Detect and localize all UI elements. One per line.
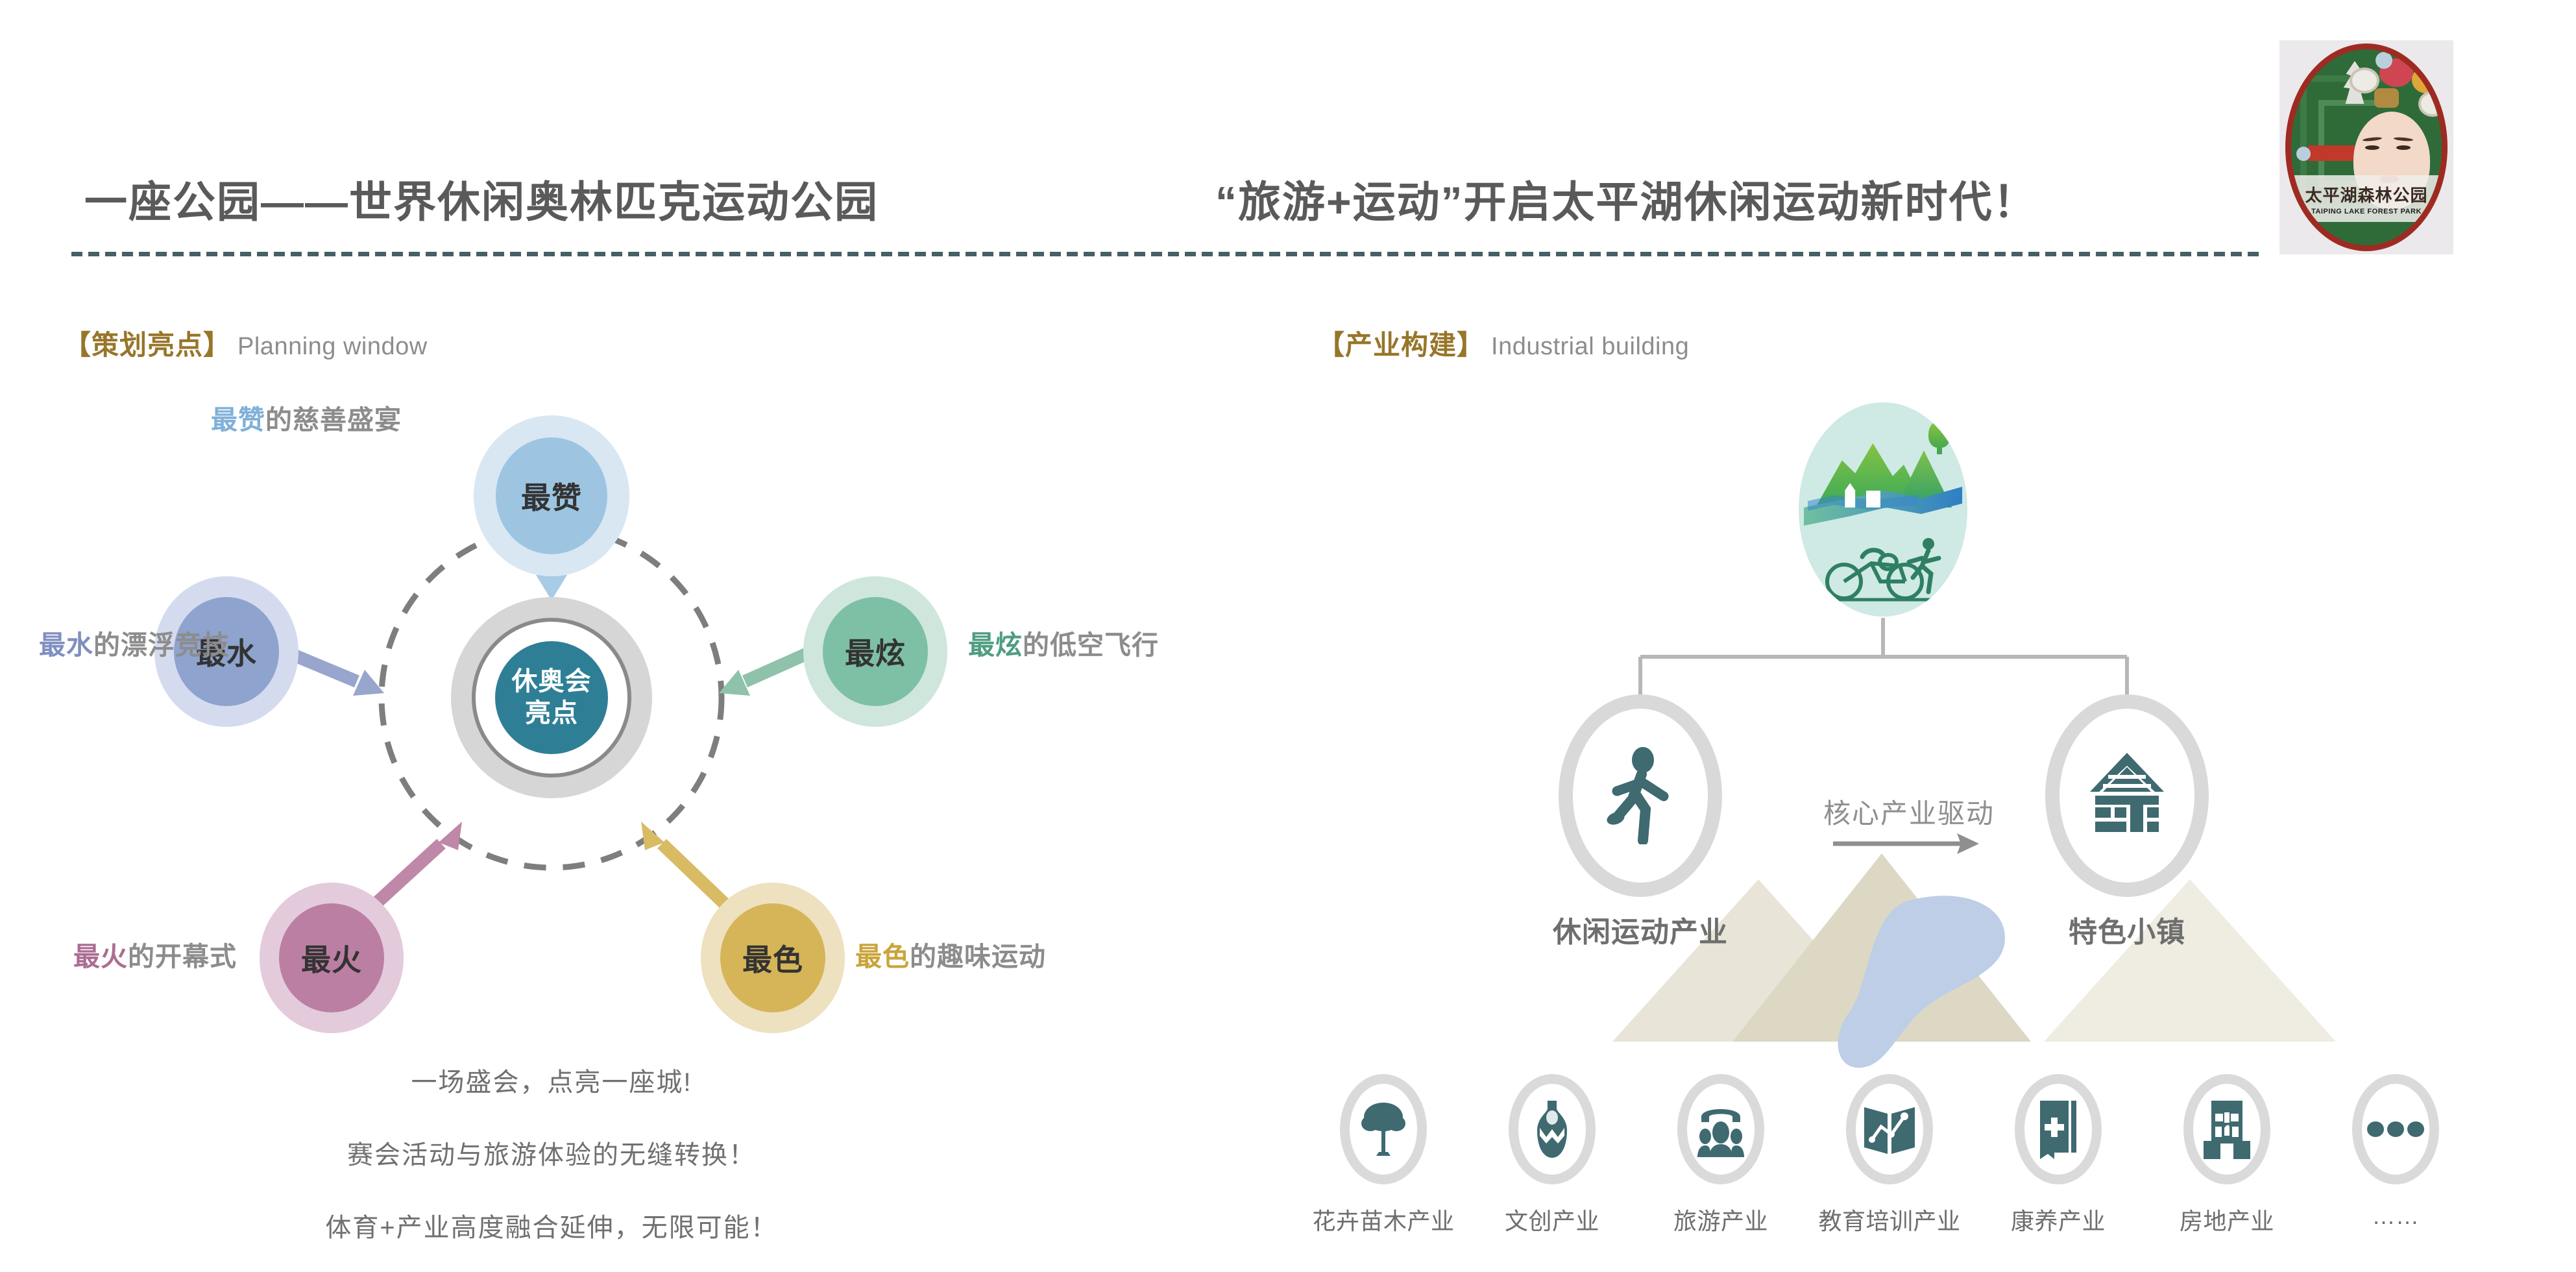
label-zan: 最赞的慈善盛宴 <box>211 398 402 437</box>
header-divider <box>71 252 2265 256</box>
core-drive-arrow <box>1833 833 1979 854</box>
sport-emblem <box>1799 402 1967 617</box>
label-huo-key: 最火 <box>73 942 128 972</box>
label-shui-key: 最水 <box>39 630 93 660</box>
logo-eye-left <box>2365 145 2379 150</box>
logo-brow-left <box>2363 136 2382 141</box>
main-node-characteristic-town[interactable]: 特色小镇 <box>2045 694 2209 897</box>
label-xuan: 最炫的低空飞行 <box>968 623 1159 662</box>
tagline-1: 一场盛会，点亮一座城! <box>78 1061 1025 1099</box>
industry-node-label: …… <box>2372 1203 2420 1230</box>
open-book-icon <box>1862 1102 1917 1156</box>
label-huo: 最火的开幕式 <box>73 935 237 973</box>
arrow-se <box>641 822 736 915</box>
logo-flower-white-2 <box>2418 91 2447 117</box>
logo-eye-right <box>2396 145 2411 150</box>
node-zan-chip: 最赞 <box>496 437 607 554</box>
label-se-key: 最色 <box>855 942 910 972</box>
center-outer-ring: 休奥会 亮点 <box>451 597 652 798</box>
industry-node-label: 花卉苗木产业 <box>1312 1203 1454 1236</box>
hot-air-balloon-icon <box>1928 421 1950 448</box>
tagline-2: 赛会活动与旅游体验的无缝转换！ <box>78 1134 1025 1171</box>
tree-icon <box>1359 1100 1407 1158</box>
node-huo-chip: 最火 <box>279 903 384 1012</box>
industry-node-health-care[interactable]: 康养产业 <box>2015 1074 2102 1184</box>
industry-node-more[interactable]: …… <box>2352 1074 2439 1184</box>
main-node-leisure-sport-label: 休闲运动产业 <box>1553 909 1728 950</box>
emblem-house-2-icon <box>1866 491 1880 508</box>
industry-node-label: 旅游产业 <box>1673 1203 1768 1236</box>
node-huo[interactable]: 最火 <box>260 883 404 1033</box>
industry-node-label: 文创产业 <box>1505 1203 1599 1236</box>
logo-disc: 太平湖森林公园 TAIPING LAKE FOREST PARK <box>2285 43 2448 251</box>
house-icon <box>2086 752 2168 840</box>
logo-caption-band: 太平湖森林公园 TAIPING LAKE FOREST PARK <box>2291 175 2442 222</box>
logo-cn-text: 太平湖森林公园 <box>2305 182 2427 206</box>
label-shui: 最水的漂浮竞技 <box>39 623 230 662</box>
logo-bead-top <box>2376 52 2392 69</box>
section-heading-planning: 【策划亮点】Planning window <box>64 323 428 363</box>
building-icon <box>2204 1099 2250 1159</box>
industry-node-label: 房地产业 <box>2180 1203 2274 1236</box>
tree-connector-lines <box>1640 618 2127 694</box>
slide-root: 一座公园——世界休闲奥林匹克运动公园 “旅游+运动”开启太平湖休闲运动新时代！ … <box>0 0 2576 1271</box>
header-title-left: 一座公园——世界休闲奥林匹克运动公园 <box>84 167 879 230</box>
logo-en-text: TAIPING LAKE FOREST PARK <box>2311 208 2422 215</box>
industry-node-tourism[interactable]: 旅游产业 <box>1677 1074 1764 1184</box>
section-heading-en: Planning window <box>237 333 428 360</box>
section-heading-en: Industrial building <box>1491 333 1689 360</box>
medical-book-icon <box>2037 1099 2079 1159</box>
center-core: 休奥会 亮点 <box>495 641 608 754</box>
ellipsis-icon <box>2367 1121 2424 1138</box>
industry-node-real-estate[interactable]: 房地产业 <box>2183 1074 2270 1184</box>
logo-brow-right <box>2394 137 2413 142</box>
vase-icon <box>1533 1099 1571 1159</box>
node-xuan-chip: 最炫 <box>823 597 928 706</box>
logo-flower-orange <box>2412 66 2442 93</box>
section-heading-industry: 【产业构建】Industrial building <box>1317 323 1689 363</box>
section-heading-cn: 【产业构建】 <box>1317 330 1485 360</box>
label-shui-rest: 的漂浮竞技 <box>93 630 230 660</box>
runner-emblem-icon <box>1902 536 1944 596</box>
industry-node-education-training[interactable]: 教育培训产业 <box>1846 1074 1933 1184</box>
label-huo-rest: 的开幕式 <box>128 942 237 972</box>
label-se: 最色的趣味运动 <box>855 935 1046 973</box>
industry-node-label: 教育培训产业 <box>1818 1203 1960 1236</box>
node-se[interactable]: 最色 <box>701 883 845 1033</box>
node-se-chip: 最色 <box>720 903 825 1012</box>
industry-node-flower-nursery[interactable]: 花卉苗木产业 <box>1340 1074 1427 1184</box>
mountain-right <box>2044 879 2336 1042</box>
logo-bead-left <box>2296 147 2311 161</box>
park-logo: 太平湖森林公园 TAIPING LAKE FOREST PARK <box>2279 40 2453 254</box>
label-xuan-key: 最炫 <box>968 630 1023 660</box>
main-node-characteristic-town-label: 特色小镇 <box>2069 909 2185 950</box>
center-line-2: 亮点 <box>525 698 578 729</box>
section-heading-cn: 【策划亮点】 <box>64 330 231 360</box>
radial-diagram: 休奥会 亮点 最赞 最赞的慈善盛宴 最炫 最炫的低空飞行 最色 最色的趣味运动 <box>78 402 1239 1266</box>
core-drive-label: 核心产业驱动 <box>1823 792 1995 831</box>
runner-icon <box>1607 747 1674 844</box>
label-xuan-rest: 的低空飞行 <box>1023 630 1159 660</box>
industry-node-label: 康养产业 <box>2011 1203 2106 1236</box>
tourism-group-icon <box>1694 1101 1748 1157</box>
industry-tree-diagram: 休闲运动产业 特色小镇 核心产业驱动 <box>1317 389 2550 1272</box>
header-title-right: “旅游+运动”开启太平湖休闲运动新时代！ <box>1215 167 2037 230</box>
center-white-ring: 休奥会 亮点 <box>472 618 631 777</box>
main-node-leisure-sport[interactable]: 休闲运动产业 <box>1559 694 1722 897</box>
label-zan-key: 最赞 <box>211 405 265 435</box>
logo-headpiece <box>2374 88 2399 108</box>
industry-node-cultural-creative[interactable]: 文创产业 <box>1509 1074 1596 1184</box>
label-zan-rest: 的慈善盛宴 <box>265 405 402 435</box>
node-xuan[interactable]: 最炫 <box>803 576 947 727</box>
tagline-3: 体育+产业高度融合延伸，无限可能！ <box>78 1206 1025 1244</box>
node-zan[interactable]: 最赞 <box>474 415 629 576</box>
arrow-xuan <box>719 649 818 696</box>
label-se-rest: 的趣味运动 <box>910 942 1046 972</box>
center-line-1: 休奥会 <box>512 666 592 698</box>
